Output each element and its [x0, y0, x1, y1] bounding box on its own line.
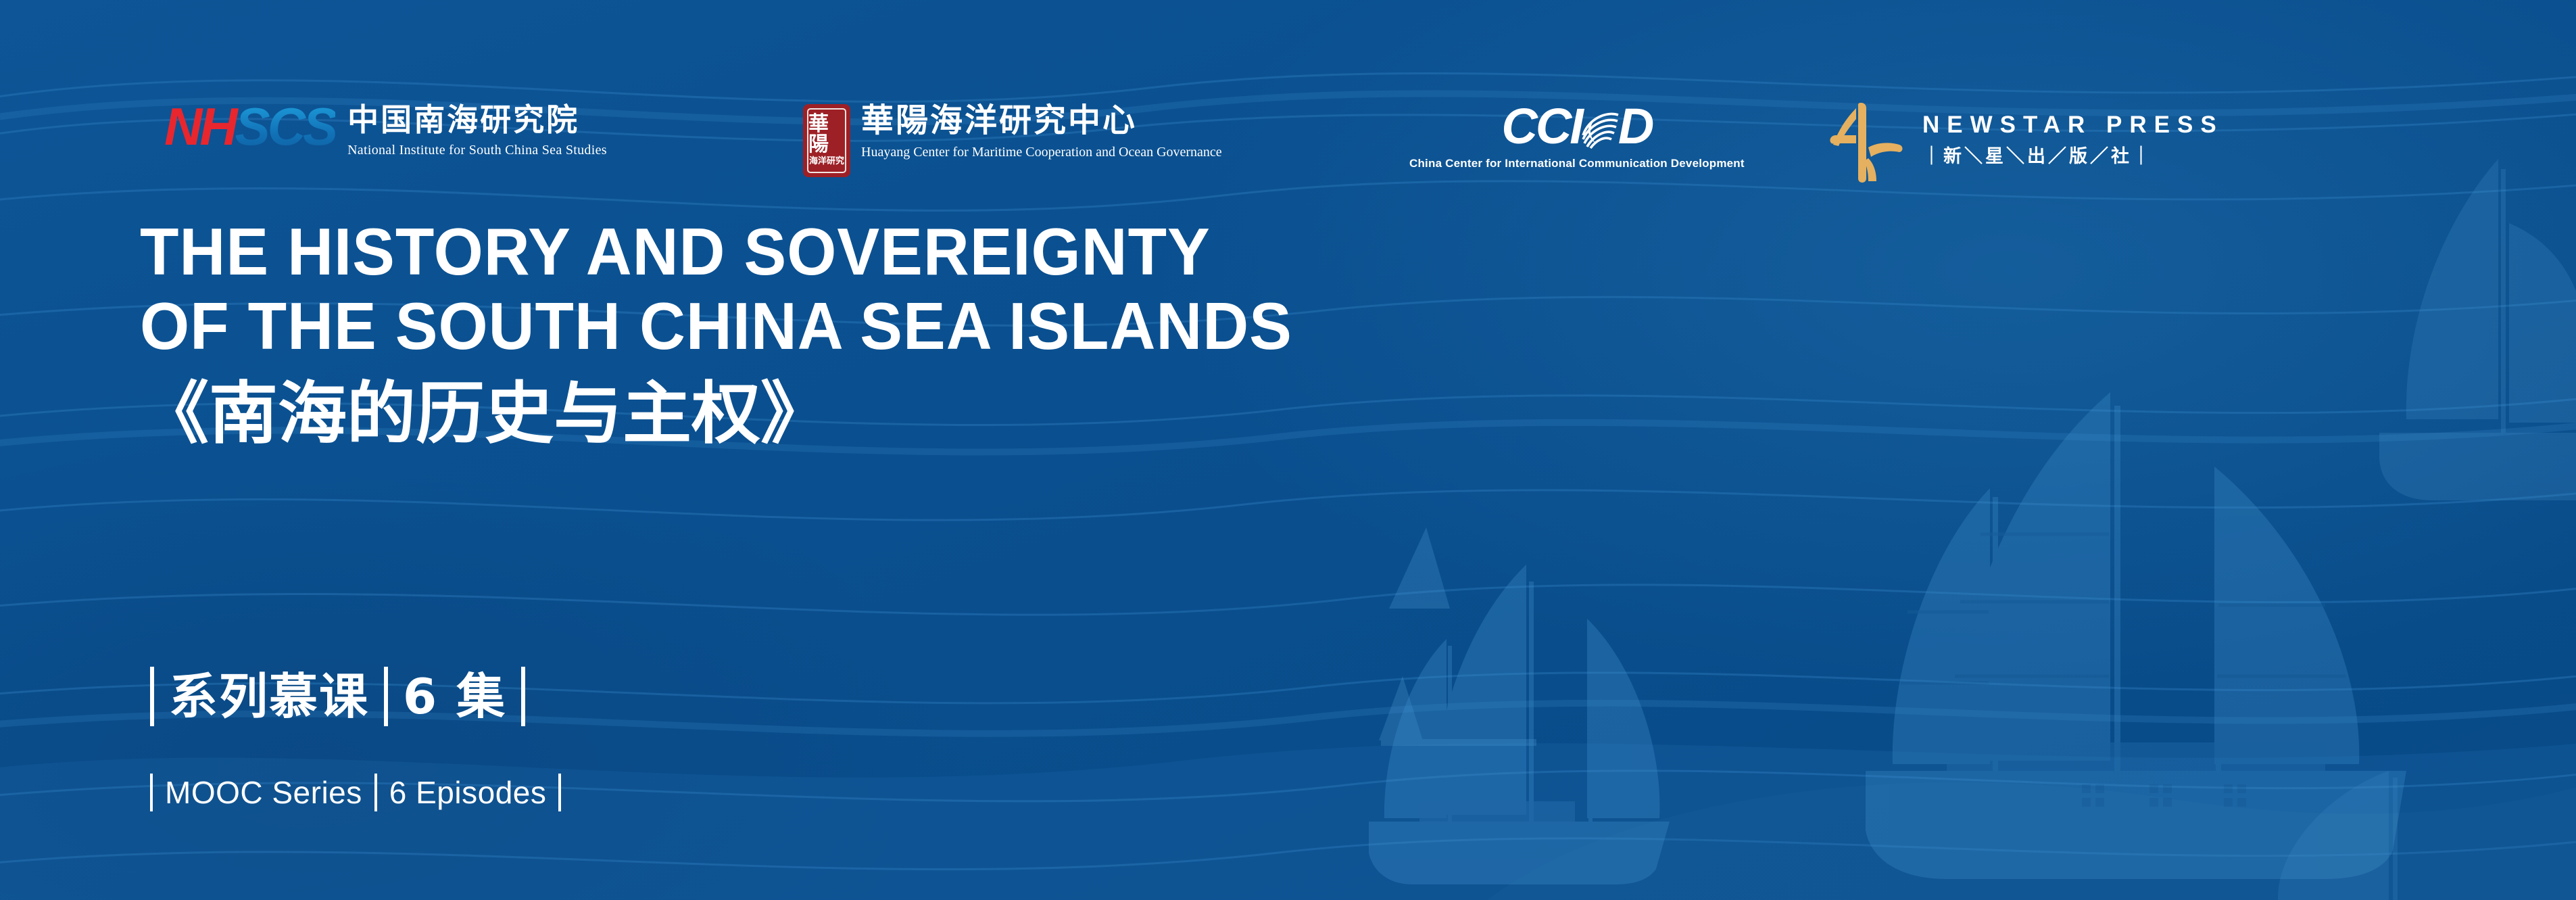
junk-ship-bottom-right	[2278, 771, 2398, 900]
logo-huayang[interactable]: 華陽 海洋研究 華陽海洋研究中心 Huayang Center for Mari…	[803, 104, 1222, 177]
nhscs-nh-text: NH	[164, 97, 235, 156]
newstar-star-icon-svg	[1829, 96, 1905, 183]
headline-block: THE HISTORY AND SOVEREIGNTY OF THE SOUTH…	[140, 215, 1340, 454]
divider-bar-icon	[521, 667, 525, 726]
ccicd-mark-left: CCI	[1501, 101, 1581, 151]
huayang-seal-bottom-text: 海洋研究	[809, 157, 844, 166]
logo-newstar-press[interactable]: NEWSTAR PRESS ｜新＼星＼出／版／社｜	[1829, 96, 2224, 183]
junk-ship-far-right	[2379, 159, 2576, 500]
title-line-2-en: OF THE SOUTH CHINA SEA ISLANDS	[140, 289, 1292, 364]
logo-ccicd[interactable]: CCI D China Center for In	[1409, 101, 1745, 170]
series-line-cn: 系列慕课 6 集	[150, 667, 573, 726]
divider-bar-icon	[150, 667, 154, 726]
series-line-en: MOOC Series 6 Episodes	[150, 774, 573, 811]
ccicd-wordmark: CCI D	[1409, 101, 1745, 151]
ccicd-mark-right: D	[1618, 101, 1652, 151]
partner-logo-row: NHSCS 中国南海研究院 National Institute for Sou…	[0, 49, 2576, 143]
newstar-name-en: NEWSTAR PRESS	[1922, 113, 2224, 137]
series-cn-count: 6 集	[403, 672, 506, 721]
divider-bar-icon	[384, 667, 388, 726]
newstar-name-cn: ｜新＼星＼出／版／社｜	[1922, 147, 2224, 166]
globe-icon	[1579, 108, 1621, 150]
divider-bar-icon	[558, 774, 561, 811]
nhscs-name-cn: 中国南海研究院	[347, 104, 607, 135]
banner-root: NHSCS 中国南海研究院 National Institute for Sou…	[0, 0, 2576, 900]
series-info-block: 系列慕课 6 集 MOOC Series 6 Episodes	[150, 667, 573, 811]
title-line-1-en: THE HISTORY AND SOVEREIGNTY	[140, 215, 1292, 289]
series-en-count: 6 Episodes	[389, 777, 547, 808]
huayang-name-cn: 華陽海洋研究中心	[861, 104, 1222, 137]
junk-ship-right	[1866, 392, 2406, 879]
divider-bar-icon	[374, 774, 377, 811]
huayang-seal-top-text: 華陽	[808, 114, 845, 155]
title-line-cn: 《南海的历史与主权》	[140, 373, 1364, 454]
junk-ship-mid	[1369, 565, 1670, 884]
huayang-name-en: Huayang Center for Maritime Cooperation …	[861, 145, 1222, 160]
divider-bar-icon	[150, 774, 153, 811]
nhscs-wordmark: NHSCS	[164, 101, 335, 151]
huayang-seal-icon: 華陽 海洋研究	[803, 104, 850, 177]
globe-icon-svg	[1579, 108, 1621, 150]
series-cn-label: 系列慕课	[169, 672, 369, 721]
series-en-label: MOOC Series	[165, 777, 362, 808]
logo-nhscs[interactable]: NHSCS 中国南海研究院 National Institute for Sou…	[164, 101, 607, 158]
nhscs-name-en: National Institute for South China Sea S…	[347, 143, 607, 158]
newstar-star-icon	[1829, 96, 1905, 183]
junk-ship-center	[1379, 527, 1536, 746]
nhscs-scs-text: SCS	[235, 97, 335, 156]
ccicd-name-en: China Center for International Communica…	[1409, 157, 1745, 170]
